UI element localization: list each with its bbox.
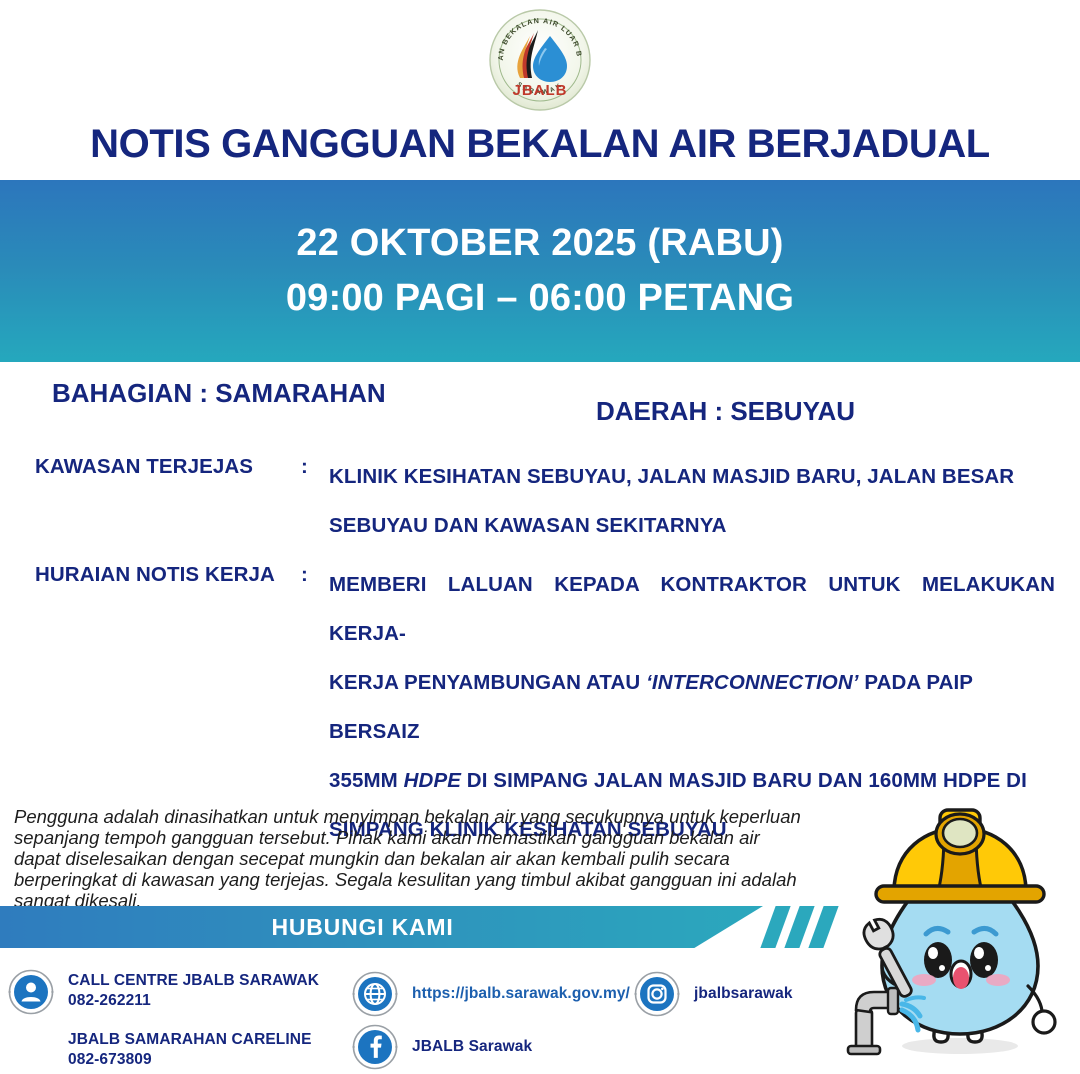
instagram-icon[interactable]: [634, 971, 680, 1017]
work-description-line-1: MEMBERI LALUAN KEPADA KONTRAKTOR UNTUK M…: [329, 573, 1055, 645]
page-title: NOTIS GANGGUAN BEKALAN AIR BERJADUAL: [0, 122, 1080, 167]
affected-area-label: KAWASAN TERJEJAS: [35, 455, 290, 479]
instagram-handle[interactable]: jbalbsarawak: [694, 984, 793, 1004]
region-row: BAHAGIAN : SAMARAHAN DAERAH : SEBUYAU: [0, 378, 1080, 420]
affected-area-colon: :: [301, 455, 308, 479]
work-description-label: HURAIAN NOTIS KERJA: [35, 563, 290, 587]
contact-banner-label: HUBUNGI KAMI: [271, 914, 453, 941]
affected-area-line-2: SEBUYAU DAN KAWASAN SEKITARNYA: [329, 501, 1055, 550]
date-time-banner: 22 OKTOBER 2025 (RABU) 09:00 PAGI – 06:0…: [0, 180, 1080, 362]
work-description-line-2: KERJA PENYAMBUNGAN ATAU ‘INTERCONNECTION…: [329, 658, 1055, 756]
notice-time: 09:00 PAGI – 06:00 PETANG: [286, 271, 794, 326]
affected-area-text: KLINIK KESIHATAN SEBUYAU, JALAN MASJID B…: [329, 452, 1055, 550]
advisory-paragraph: Pengguna adalah dinasihatkan untuk menyi…: [14, 806, 804, 911]
careline-name: JBALB SAMARAHAN CARELINE: [68, 1030, 312, 1050]
jbalb-logo: JABATAN BEKALAN AIR LUAR BANDAR SARAWAK …: [0, 6, 1080, 114]
water-droplet-mascot: [832, 788, 1080, 1074]
svg-text:JBALB: JBALB: [512, 82, 567, 99]
affected-area-line-1: KLINIK KESIHATAN SEBUYAU, JALAN MASJID B…: [329, 465, 1014, 488]
globe-icon[interactable]: [352, 971, 398, 1017]
work-desc-l3-a: 355MM: [329, 769, 404, 792]
contact-banner: HUBUNGI KAMI: [0, 906, 763, 948]
facebook-handle[interactable]: JBALB Sarawak: [412, 1037, 532, 1057]
work-desc-hdpe: HDPE: [404, 769, 461, 792]
call-centre-name: CALL CENTRE JBALB SARAWAK: [68, 971, 319, 991]
work-desc-l2-a: KERJA PENYAMBUNGAN ATAU: [329, 671, 646, 694]
careline-block: JBALB SAMARAHAN CARELINE 082-673809: [68, 1030, 312, 1070]
call-centre-number: 082-262211: [68, 991, 319, 1011]
facebook-icon[interactable]: [352, 1024, 398, 1070]
bahagian-label: BAHAGIAN : SAMARAHAN: [52, 378, 386, 409]
jbalb-logo-icon: JABATAN BEKALAN AIR LUAR BANDAR SARAWAK …: [488, 8, 592, 112]
notice-date: 22 OKTOBER 2025 (RABU): [296, 216, 783, 271]
person-icon: [8, 969, 54, 1015]
call-centre-block: CALL CENTRE JBALB SARAWAK 082-262211: [68, 971, 319, 1011]
work-desc-interconnection: ‘INTERCONNECTION’: [646, 671, 858, 694]
work-description-colon: :: [301, 563, 308, 587]
water-disruption-notice-poster: JABATAN BEKALAN AIR LUAR BANDAR SARAWAK …: [0, 0, 1080, 1074]
daerah-label: DAERAH : SEBUYAU: [596, 396, 855, 427]
website-url[interactable]: https://jbalb.sarawak.gov.my/: [412, 984, 630, 1004]
careline-number: 082-673809: [68, 1050, 312, 1070]
